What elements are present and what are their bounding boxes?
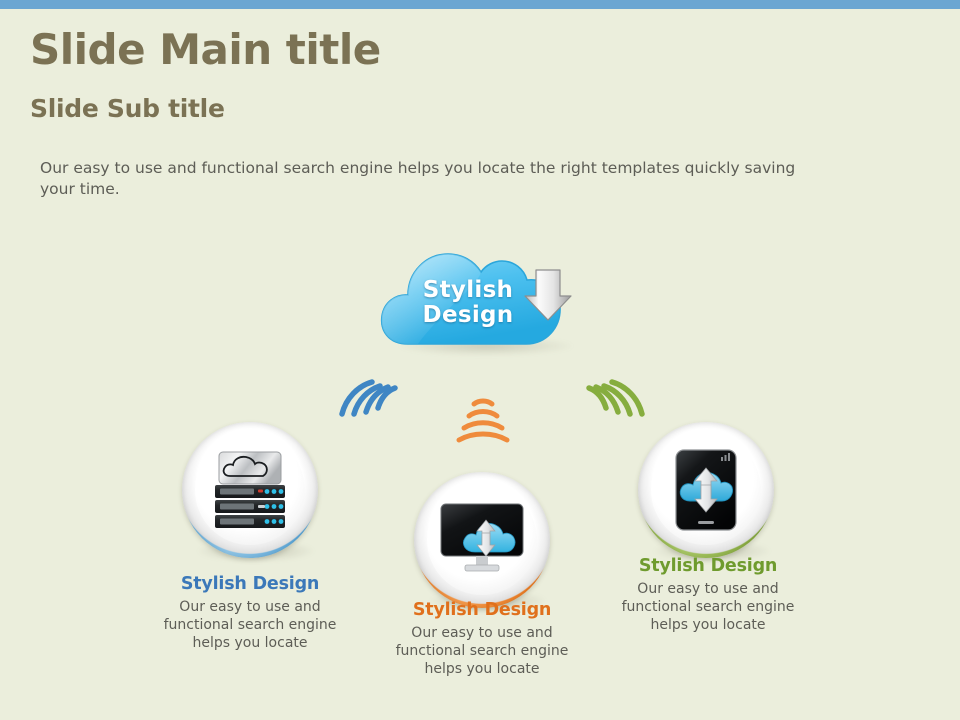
caption-left-title: Stylish Design: [150, 574, 350, 594]
signal-arcs-left: [328, 362, 408, 424]
node-center-inner: [427, 485, 537, 595]
node-center-ring: [414, 472, 550, 608]
caption-left: Stylish Design Our easy to use and funct…: [150, 574, 350, 653]
caption-right-title: Stylish Design: [608, 556, 808, 576]
node-center[interactable]: [414, 472, 550, 612]
intro-paragraph: Our easy to use and functional search en…: [40, 158, 820, 200]
cloud-server-rack-icon: [212, 451, 288, 529]
node-right-ring: [638, 422, 774, 558]
signal-arcs-center: [452, 396, 514, 446]
caption-right-body: Our easy to use and functional search en…: [608, 581, 808, 635]
caption-center-body: Our easy to use and functional search en…: [382, 625, 582, 679]
node-left[interactable]: [182, 422, 318, 562]
page-title: Slide Main title: [30, 28, 381, 72]
desktop-monitor-cloud-sync-icon: [439, 503, 525, 577]
cloud-label-line1: Stylish: [378, 278, 558, 303]
node-right-inner: [651, 435, 761, 545]
tablet-device-cloud-sync-icon: [675, 449, 737, 531]
node-left-inner: [195, 435, 305, 545]
page-subtitle: Slide Sub title: [30, 94, 225, 123]
cloud-label-line2: Design: [378, 303, 558, 328]
cloud-graphic: Stylish Design: [378, 240, 598, 360]
signal-arcs-right: [576, 362, 656, 424]
node-left-ring: [182, 422, 318, 558]
slide-canvas: Slide Main title Slide Sub title Our eas…: [0, 0, 960, 720]
top-accent-bar: [0, 0, 960, 9]
caption-right: Stylish Design Our easy to use and funct…: [608, 556, 808, 635]
caption-center-title: Stylish Design: [382, 600, 582, 620]
caption-left-body: Our easy to use and functional search en…: [150, 599, 350, 653]
cloud-label: Stylish Design: [378, 278, 558, 328]
caption-center: Stylish Design Our easy to use and funct…: [382, 600, 582, 679]
node-right[interactable]: [638, 422, 774, 562]
